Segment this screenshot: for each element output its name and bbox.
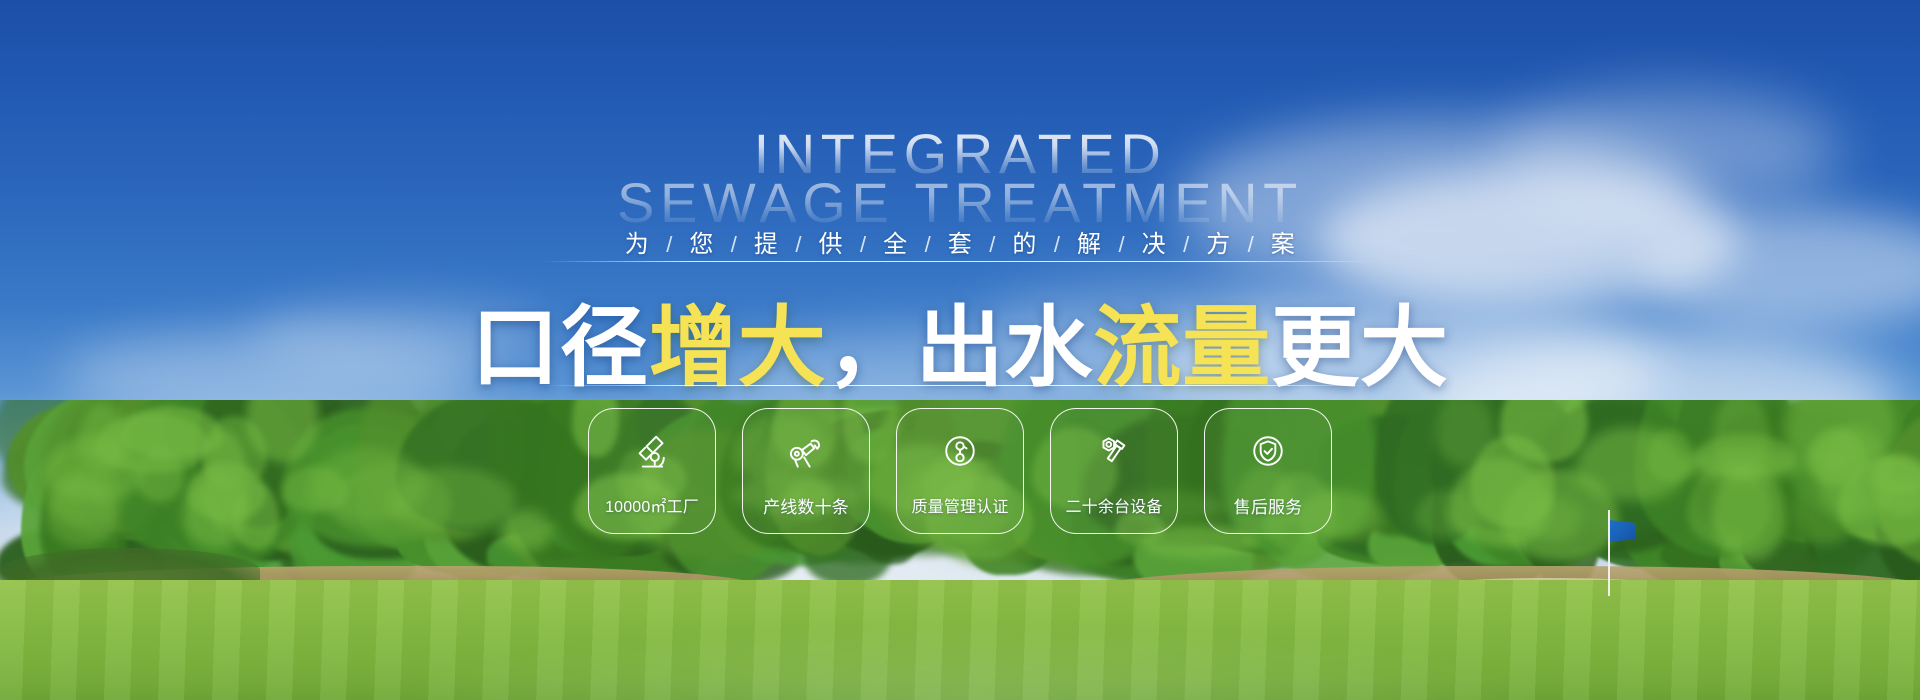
subtitle-separator: / xyxy=(1101,232,1141,258)
quality-certificate-icon xyxy=(938,429,982,473)
subtitle-separator: / xyxy=(778,232,818,258)
page-title-highlight: 流量 xyxy=(1093,296,1271,399)
feature-badge[interactable]: 二十余台设备 xyxy=(1050,408,1178,534)
page-title-highlight: 增大 xyxy=(649,296,827,399)
subtitle-word: 案 xyxy=(1271,224,1295,259)
subtitle-word: 决 xyxy=(1142,224,1166,259)
subtitle-separator: / xyxy=(908,232,948,258)
feature-badge[interactable]: 售后服务 xyxy=(1204,408,1332,534)
hero-content: INTEGRATED SEWAGE TREATMENT 为/您/提/供/全/套/… xyxy=(0,0,1920,700)
subtitle-separator: / xyxy=(1037,232,1077,258)
subtitle-word: 您 xyxy=(689,224,713,259)
page-title-segment: ， xyxy=(827,296,916,399)
feature-badge-label: 售后服务 xyxy=(1234,493,1303,518)
shield-check-icon xyxy=(1246,429,1290,473)
divider-bottom xyxy=(541,385,1379,386)
feature-badge-label: 产线数十条 xyxy=(763,493,849,518)
subtitle-separator: / xyxy=(843,232,883,258)
page-title-segment: 出水 xyxy=(916,296,1094,399)
production-line-machine-icon xyxy=(784,429,828,473)
subtitle-separator: / xyxy=(649,232,689,258)
subtitle-word: 为 xyxy=(625,224,649,259)
nut-and-bolt-icon xyxy=(1092,429,1136,473)
subtitle-separator: / xyxy=(714,232,754,258)
feature-badge-list: 10000㎡工厂产线数十条质量管理认证二十余台设备售后服务 xyxy=(0,408,1920,534)
feature-badge[interactable]: 质量管理认证 xyxy=(896,408,1024,534)
subtitle-separator: / xyxy=(1231,232,1271,258)
subtitle-word: 供 xyxy=(819,224,843,259)
subtitle-word: 套 xyxy=(948,224,972,259)
subtitle-separator: / xyxy=(1166,232,1206,258)
subtitle-word: 提 xyxy=(754,224,778,259)
subtitle-word: 解 xyxy=(1077,224,1101,259)
subtitle-word: 全 xyxy=(883,224,907,259)
subtitle-slash-list: 为/您/提/供/全/套/的/解/决/方/案 xyxy=(0,224,1920,259)
page-title-segment: 更大 xyxy=(1271,296,1449,399)
subtitle-separator: / xyxy=(972,232,1012,258)
feature-badge[interactable]: 产线数十条 xyxy=(742,408,870,534)
microscope-icon xyxy=(630,429,674,473)
feature-badge[interactable]: 10000㎡工厂 xyxy=(588,408,716,534)
feature-badge-label: 二十余台设备 xyxy=(1066,493,1163,517)
feature-badge-label: 质量管理认证 xyxy=(912,493,1009,517)
divider-top xyxy=(541,261,1379,262)
subtitle-word: 的 xyxy=(1012,224,1036,259)
feature-badge-label: 10000㎡工厂 xyxy=(605,493,699,517)
page-title-segment: 口径 xyxy=(471,296,649,399)
subtitle-word: 方 xyxy=(1206,224,1230,259)
hero-banner: INTEGRATED SEWAGE TREATMENT 为/您/提/供/全/套/… xyxy=(0,0,1920,700)
